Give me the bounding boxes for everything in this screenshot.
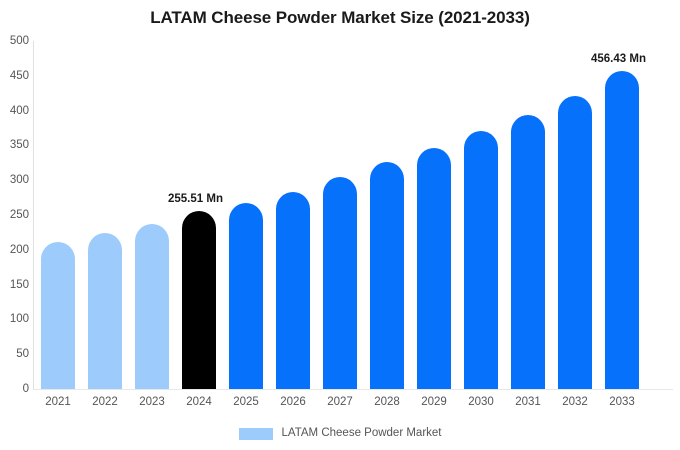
- bar-2021[interactable]: [41, 242, 75, 389]
- x-tick-label-2026: 2026: [276, 396, 310, 409]
- chart-legend: LATAM Cheese Powder Market: [0, 427, 680, 440]
- bar-data-label-2033: 456.43 Mn: [591, 53, 646, 66]
- y-tick-label: 250: [0, 209, 29, 221]
- x-tick-label-2024: 2024: [182, 396, 216, 409]
- y-tick-label: 300: [0, 174, 29, 186]
- y-tick-label: 500: [0, 35, 29, 47]
- x-axis-line: [33, 389, 673, 390]
- y-tick-label: 0: [0, 383, 29, 395]
- x-tick-label-2023: 2023: [135, 396, 169, 409]
- x-tick-label-2025: 2025: [229, 396, 263, 409]
- bar-2030[interactable]: [464, 131, 498, 389]
- bar-chart: LATAM Cheese Powder Market Size (2021-20…: [0, 0, 680, 450]
- x-tick-label-2021: 2021: [41, 396, 75, 409]
- bar-data-label-2024: 255.51 Mn: [168, 193, 223, 206]
- y-tick-label: 50: [0, 348, 29, 360]
- y-tick-label: 200: [0, 244, 29, 256]
- bar-2026[interactable]: [276, 192, 310, 389]
- bar-2022[interactable]: [88, 233, 122, 389]
- x-tick-label-2028: 2028: [370, 396, 404, 409]
- bar-2032[interactable]: [558, 96, 592, 389]
- x-tick-label-2030: 2030: [464, 396, 498, 409]
- bar-2023[interactable]: [135, 224, 169, 389]
- y-tick-label: 400: [0, 105, 29, 117]
- y-tick-label: 100: [0, 313, 29, 325]
- legend-label-latam-cheese-powder-market: LATAM Cheese Powder Market: [282, 427, 442, 440]
- x-tick-label-2032: 2032: [558, 396, 592, 409]
- y-axis-line: [33, 41, 34, 390]
- plot-area: 500450400350300250200150100500 202120222…: [0, 0, 680, 450]
- bar-2031[interactable]: [511, 115, 545, 389]
- bar-2028[interactable]: [370, 162, 404, 389]
- x-tick-label-2031: 2031: [511, 396, 545, 409]
- bar-2024[interactable]: [182, 211, 216, 389]
- bar-2025[interactable]: [229, 203, 263, 389]
- x-tick-label-2022: 2022: [88, 396, 122, 409]
- y-tick-label: 450: [0, 70, 29, 82]
- x-tick-label-2029: 2029: [417, 396, 451, 409]
- x-tick-label-2033: 2033: [605, 396, 639, 409]
- y-tick-label: 150: [0, 279, 29, 291]
- legend-swatch-latam-cheese-powder-market: [239, 428, 273, 440]
- bar-2033[interactable]: [605, 71, 639, 389]
- bar-2029[interactable]: [417, 148, 451, 389]
- bar-2027[interactable]: [323, 177, 357, 389]
- x-tick-label-2027: 2027: [323, 396, 357, 409]
- y-tick-label: 350: [0, 139, 29, 151]
